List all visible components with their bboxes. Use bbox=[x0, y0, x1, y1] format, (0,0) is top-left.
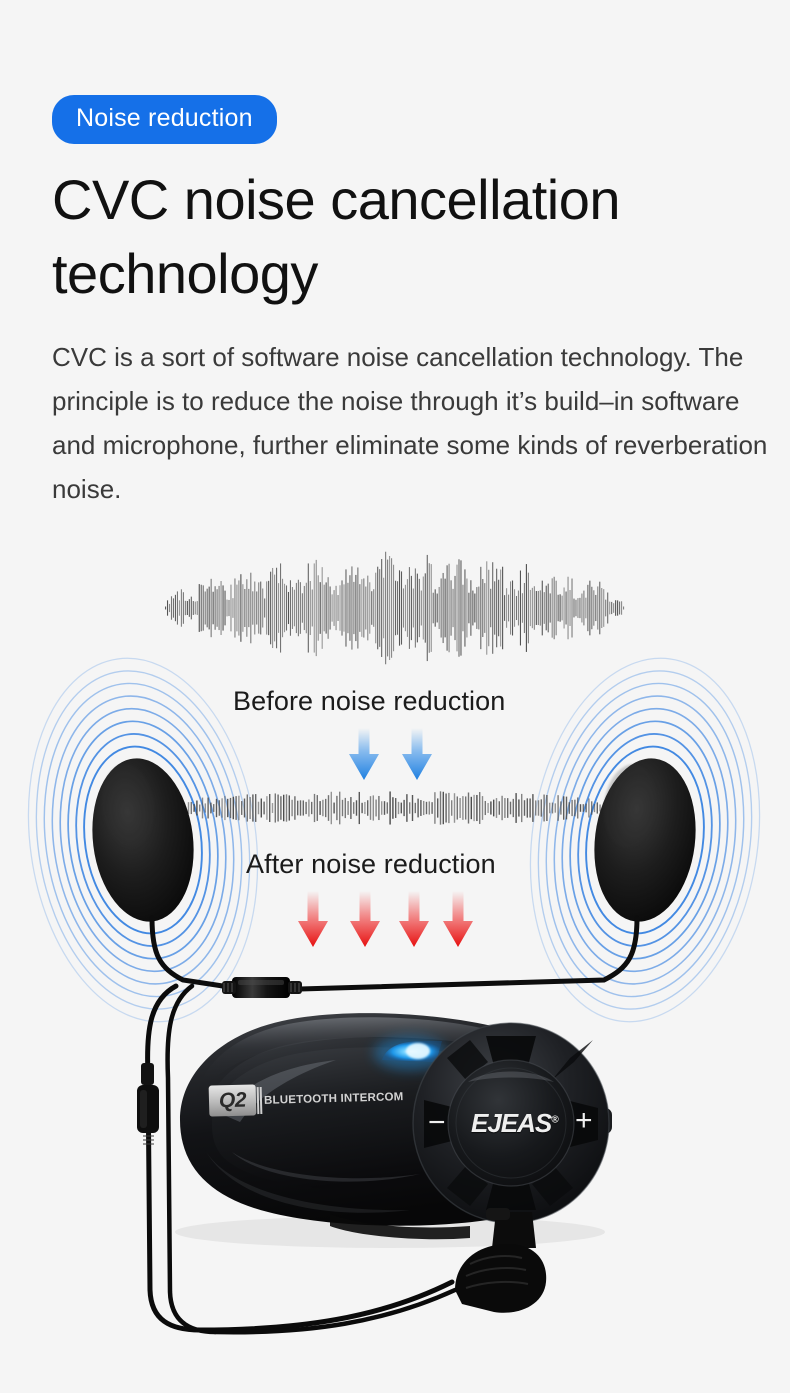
noise-reduction-badge: Noise reduction bbox=[52, 95, 277, 144]
caption-before-noise-reduction: Before noise reduction bbox=[233, 686, 505, 717]
product-feature-page: Noise reduction CVC noise cancellation t… bbox=[0, 0, 790, 1393]
earpiece-left bbox=[83, 753, 202, 928]
red-arrow-group bbox=[298, 891, 473, 947]
earpiece-right bbox=[585, 753, 704, 928]
cable-inline-module bbox=[137, 1063, 159, 1144]
blue-arrow-group bbox=[349, 728, 432, 780]
volume-up-icon: + bbox=[575, 1106, 593, 1136]
brand-logo-text: EJEAS bbox=[471, 1108, 551, 1138]
sound-rings-right bbox=[508, 643, 782, 1036]
cable-connector bbox=[222, 977, 302, 998]
cable-strain-relief bbox=[455, 1208, 546, 1313]
intercom-device bbox=[175, 1013, 612, 1313]
cable-harness bbox=[148, 918, 637, 1332]
page-title: CVC noise cancellation technology bbox=[52, 163, 752, 312]
volume-down-icon: − bbox=[428, 1108, 446, 1138]
waveform-before bbox=[165, 552, 624, 665]
led-indicator bbox=[374, 1036, 446, 1070]
device-model-badge: Q2 bbox=[209, 1084, 257, 1116]
description-paragraph: CVC is a sort of software noise cancella… bbox=[52, 335, 788, 511]
brand-logo: EJEAS® bbox=[471, 1108, 558, 1139]
trademark-symbol: ® bbox=[551, 1114, 557, 1125]
caption-after-noise-reduction: After noise reduction bbox=[246, 849, 496, 880]
device-type-label: BLUETOOTH INTERCOM bbox=[264, 1091, 404, 1107]
waveform-after bbox=[185, 791, 604, 824]
